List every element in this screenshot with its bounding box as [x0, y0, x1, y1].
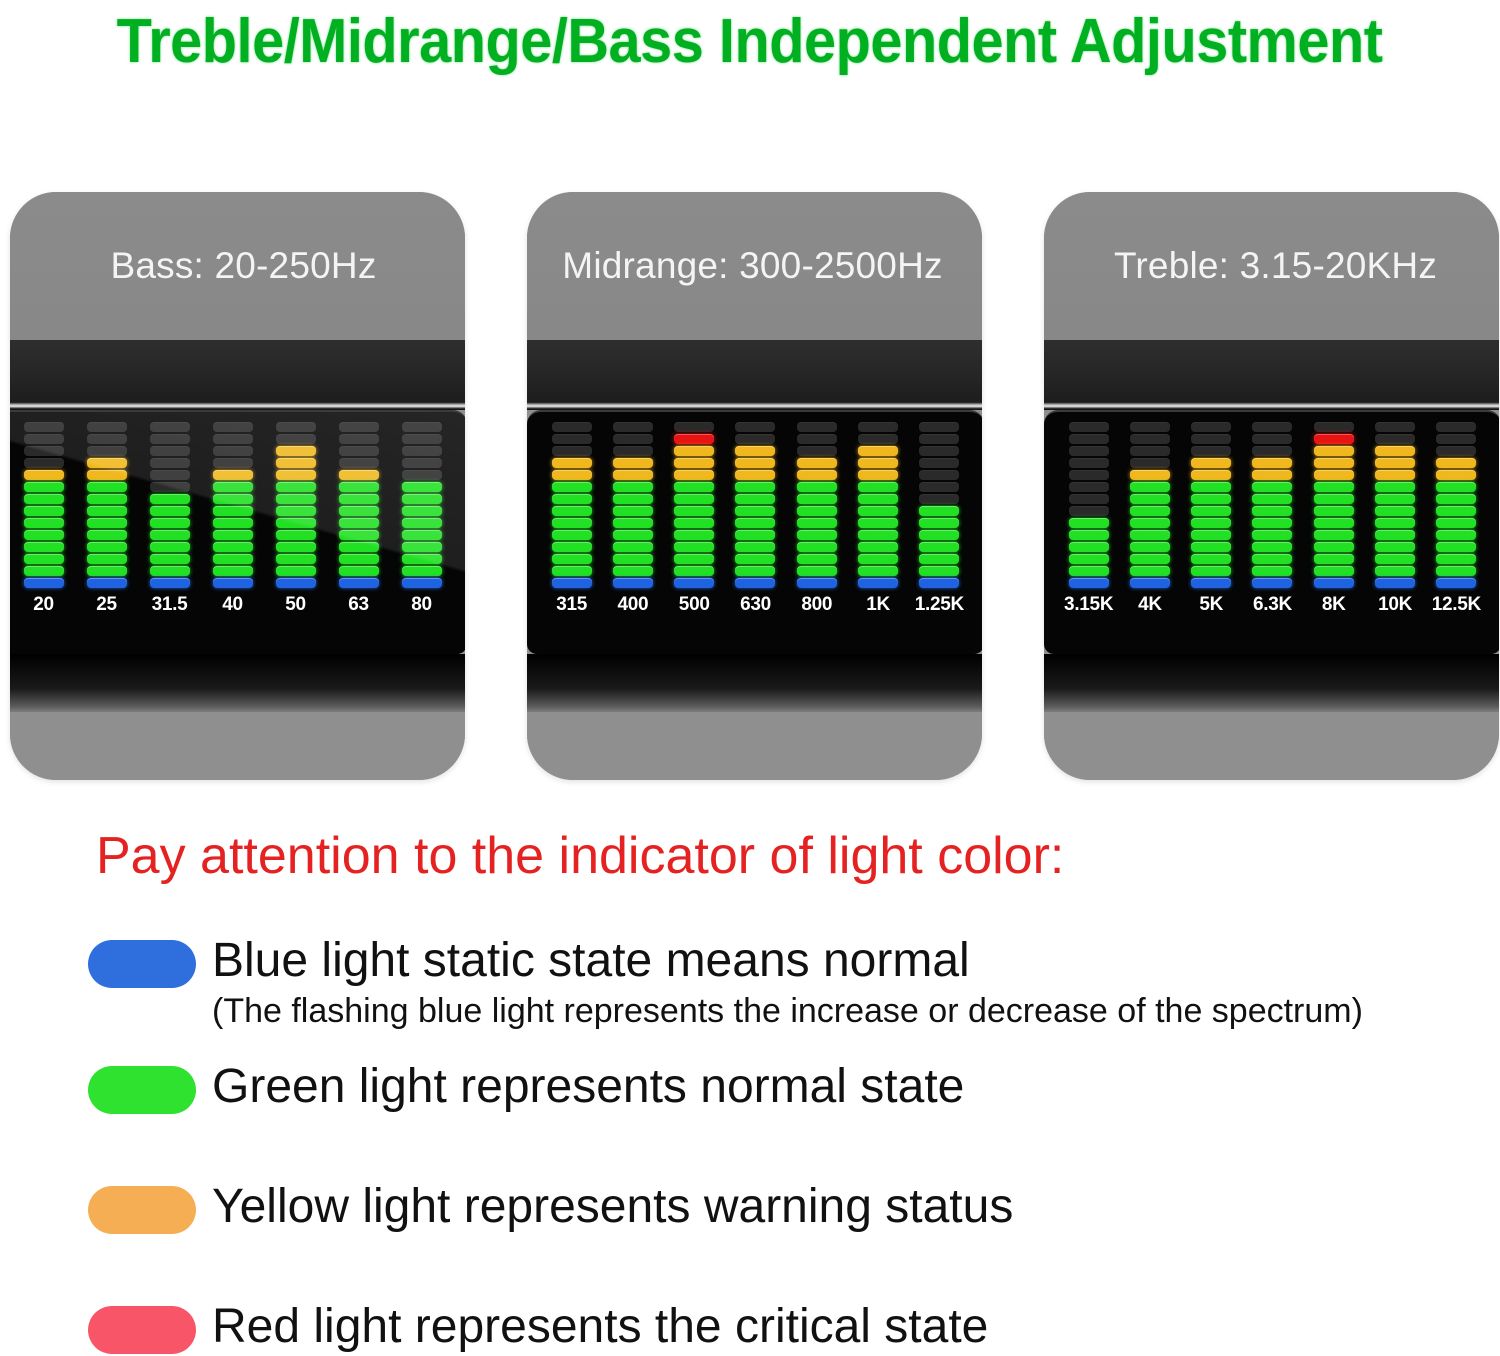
legend-item-green: Green light represents normal state [88, 1058, 1500, 1116]
frequency-label: 400 [618, 594, 649, 616]
led-segment-yellow [276, 470, 316, 480]
led-segment-blue [24, 578, 64, 588]
led-segment-green [552, 554, 592, 564]
led-segment-green [87, 530, 127, 540]
legend-text-blue: Blue light static state means normal (Th… [212, 932, 1363, 1032]
spectrum-panel-midrange: Midrange: 300-2500Hz 3154005006308001K1.… [527, 192, 982, 780]
led-segment-green [1191, 554, 1231, 564]
led-segment-off [1069, 434, 1109, 444]
led-segment-green [213, 530, 253, 540]
panel-header-midrange: Midrange: 300-2500Hz [527, 192, 982, 340]
led-segment-green [919, 506, 959, 516]
led-segment-green [339, 494, 379, 504]
led-segment-green [87, 482, 127, 492]
led-segment-blue [339, 578, 379, 588]
led-segment-green [552, 518, 592, 528]
led-segment-yellow [1375, 446, 1415, 456]
led-segment-off [552, 422, 592, 432]
led-segment-yellow [735, 446, 775, 456]
panel-foot-bass [10, 712, 465, 780]
led-segment-green [858, 518, 898, 528]
led-segment-green [613, 494, 653, 504]
led-segment-green [1130, 482, 1170, 492]
led-segment-green [797, 542, 837, 552]
led-segment-green [87, 566, 127, 576]
yellow-light-swatch-icon [88, 1186, 196, 1234]
panel-header-treble: Treble: 3.15-20KHz [1044, 192, 1499, 340]
led-bar-63: 63 [337, 418, 381, 616]
led-segment-green [24, 494, 64, 504]
led-segment-off [1130, 446, 1170, 456]
led-segment-green [797, 518, 837, 528]
led-segment-green [858, 566, 898, 576]
led-screen-treble: 3.15K4K5K6.3K8K10K12.5K [1044, 410, 1499, 654]
frequency-label: 3.15K [1064, 594, 1113, 616]
led-segment-green [1130, 566, 1170, 576]
frequency-label: 20 [33, 594, 54, 616]
led-segment-off [1252, 422, 1292, 432]
led-segment-green [735, 482, 775, 492]
led-segment-green [24, 542, 64, 552]
led-segment-green [339, 482, 379, 492]
led-segment-green [1191, 530, 1231, 540]
led-segment-green [1252, 494, 1292, 504]
legend-label-red: Red light represents the critical state [212, 1298, 988, 1356]
led-segment-green [213, 494, 253, 504]
frequency-label: 31.5 [152, 594, 188, 616]
led-segment-stack [674, 418, 714, 590]
led-segment-green [674, 542, 714, 552]
page-title: Treble/Midrange/Bass Independent Adjustm… [0, 2, 1500, 82]
led-segment-yellow [613, 470, 653, 480]
frequency-label: 40 [222, 594, 243, 616]
led-segment-off [919, 434, 959, 444]
led-segment-off [213, 434, 253, 444]
led-segment-green [613, 554, 653, 564]
led-bar-group-bass: 202531.540506380 [10, 420, 465, 616]
led-segment-off [1191, 446, 1231, 456]
led-segment-green [552, 566, 592, 576]
led-segment-green [1314, 482, 1354, 492]
legend-label-blue: Blue light static state means normal [212, 932, 1363, 990]
led-segment-green [87, 494, 127, 504]
led-segment-off [1375, 422, 1415, 432]
led-segment-off [1191, 434, 1231, 444]
led-segment-green [1130, 518, 1170, 528]
led-segment-green [1375, 542, 1415, 552]
led-segment-green [1191, 518, 1231, 528]
led-bar-20: 20 [22, 418, 66, 616]
led-segment-green [1252, 554, 1292, 564]
frequency-label: 25 [96, 594, 117, 616]
led-segment-off [24, 434, 64, 444]
led-segment-green [552, 482, 592, 492]
led-segment-green [674, 518, 714, 528]
led-segment-off [213, 446, 253, 456]
legend-item-list: Blue light static state means normal (Th… [0, 932, 1500, 1356]
led-segment-yellow [674, 458, 714, 468]
led-segment-green [1436, 482, 1476, 492]
led-segment-off [150, 470, 190, 480]
led-segment-yellow [674, 446, 714, 456]
led-segment-green [339, 518, 379, 528]
led-segment-green [613, 518, 653, 528]
frequency-label: 5K [1199, 594, 1223, 616]
led-bar-80: 80 [400, 418, 444, 616]
led-segment-green [276, 518, 316, 528]
led-segment-stack [339, 418, 379, 590]
led-segment-yellow [1314, 458, 1354, 468]
led-segment-green [339, 566, 379, 576]
led-segment-green [1069, 566, 1109, 576]
led-segment-green [1130, 542, 1170, 552]
led-segment-stack [402, 418, 442, 590]
led-segment-off [735, 422, 775, 432]
led-segment-green [276, 554, 316, 564]
led-segment-red [1314, 434, 1354, 444]
led-segment-green [1191, 506, 1231, 516]
led-segment-green [858, 530, 898, 540]
led-segment-green [1069, 518, 1109, 528]
led-bar-31.5: 31.5 [148, 418, 192, 616]
led-segment-off [1314, 422, 1354, 432]
led-bar-315: 315 [550, 418, 594, 616]
led-segment-green [797, 506, 837, 516]
led-segment-off [150, 458, 190, 468]
led-segment-blue [1436, 578, 1476, 588]
frequency-label: 630 [740, 594, 771, 616]
led-segment-green [735, 506, 775, 516]
led-segment-stack [24, 418, 64, 590]
led-segment-yellow [87, 458, 127, 468]
frequency-label: 1K [866, 594, 890, 616]
led-segment-green [1436, 494, 1476, 504]
led-segment-off [87, 446, 127, 456]
led-segment-blue [858, 578, 898, 588]
led-segment-green [858, 494, 898, 504]
led-segment-green [24, 482, 64, 492]
led-segment-stack [213, 418, 253, 590]
led-segment-green [87, 518, 127, 528]
panel-dark-band-midrange [527, 340, 982, 402]
led-segment-blue [1069, 578, 1109, 588]
led-segment-green [1314, 494, 1354, 504]
led-segment-green [402, 518, 442, 528]
led-segment-yellow [87, 470, 127, 480]
led-segment-green [1252, 530, 1292, 540]
legend-sublabel-blue: (The flashing blue light represents the … [212, 990, 1363, 1032]
led-segment-blue [87, 578, 127, 588]
led-segment-off [1069, 458, 1109, 468]
led-segment-stack [276, 418, 316, 590]
led-segment-off [402, 446, 442, 456]
led-segment-green [919, 542, 959, 552]
led-segment-off [613, 446, 653, 456]
green-light-swatch-icon [88, 1066, 196, 1114]
led-segment-green [1375, 506, 1415, 516]
led-segment-off [1375, 434, 1415, 444]
led-segment-green [674, 566, 714, 576]
led-segment-green [1375, 554, 1415, 564]
led-segment-green [1436, 566, 1476, 576]
led-segment-yellow [276, 458, 316, 468]
led-segment-green [24, 566, 64, 576]
led-segment-green [150, 494, 190, 504]
panel-title-midrange: Midrange: 300-2500Hz [562, 245, 942, 287]
led-segment-yellow [1436, 458, 1476, 468]
led-segment-yellow [276, 446, 316, 456]
panel-hairline-bass [10, 402, 465, 410]
led-segment-off [339, 434, 379, 444]
led-segment-off [213, 458, 253, 468]
led-segment-off [339, 458, 379, 468]
led-segment-off [1252, 446, 1292, 456]
led-segment-green [797, 530, 837, 540]
panel-bottom-band-bass [10, 654, 465, 714]
led-segment-off [674, 422, 714, 432]
led-segment-yellow [674, 470, 714, 480]
led-segment-stack [150, 418, 190, 590]
led-segment-green [150, 542, 190, 552]
led-segment-green [674, 494, 714, 504]
led-segment-yellow [24, 470, 64, 480]
led-segment-off [1436, 446, 1476, 456]
led-segment-green [1191, 494, 1231, 504]
led-segment-green [735, 566, 775, 576]
led-segment-off [613, 422, 653, 432]
panel-dark-band-treble [1044, 340, 1499, 402]
led-segment-green [1436, 542, 1476, 552]
led-segment-green [919, 566, 959, 576]
frequency-label: 500 [679, 594, 710, 616]
led-segment-off [613, 434, 653, 444]
led-segment-green [276, 506, 316, 516]
led-segment-green [552, 506, 592, 516]
led-segment-yellow [1130, 470, 1170, 480]
led-segment-yellow [797, 458, 837, 468]
legend-item-red: Red light represents the critical state [88, 1298, 1500, 1356]
led-segment-green [919, 530, 959, 540]
led-segment-green [1375, 566, 1415, 576]
led-segment-off [797, 446, 837, 456]
led-segment-stack [735, 418, 775, 590]
led-segment-green [613, 506, 653, 516]
led-segment-blue [1252, 578, 1292, 588]
led-segment-blue [674, 578, 714, 588]
led-segment-green [213, 566, 253, 576]
led-segment-green [276, 482, 316, 492]
led-segment-blue [552, 578, 592, 588]
led-segment-green [1191, 566, 1231, 576]
led-segment-stack [1130, 418, 1170, 590]
led-segment-stack [1191, 418, 1231, 590]
led-segment-off [1130, 434, 1170, 444]
led-segment-green [213, 482, 253, 492]
led-segment-off [150, 422, 190, 432]
led-bar-12.5K: 12.5K [1434, 418, 1478, 616]
led-segment-stack [87, 418, 127, 590]
led-segment-off [87, 434, 127, 444]
spectrum-panel-bass: Bass: 20-250Hz 202531.540506380 [10, 192, 465, 780]
led-segment-yellow [1191, 470, 1231, 480]
led-segment-off [24, 458, 64, 468]
led-segment-off [919, 494, 959, 504]
frequency-label: 50 [285, 594, 306, 616]
led-segment-green [674, 530, 714, 540]
led-segment-blue [213, 578, 253, 588]
led-bar-group-treble: 3.15K4K5K6.3K8K10K12.5K [1044, 420, 1499, 616]
led-segment-green [613, 566, 653, 576]
panel-bottom-band-midrange [527, 654, 982, 714]
led-segment-green [1069, 542, 1109, 552]
led-segment-yellow [552, 458, 592, 468]
led-segment-yellow [213, 470, 253, 480]
led-segment-green [1314, 506, 1354, 516]
led-segment-green [339, 554, 379, 564]
led-segment-yellow [1314, 470, 1354, 480]
led-segment-green [674, 506, 714, 516]
led-screen-midrange: 3154005006308001K1.25K [527, 410, 982, 654]
led-segment-green [858, 506, 898, 516]
led-segment-green [402, 542, 442, 552]
legend-label-green: Green light represents normal state [212, 1058, 964, 1116]
frequency-label: 800 [801, 594, 832, 616]
led-bar-1.25K: 1.25K [917, 418, 961, 616]
led-segment-green [402, 530, 442, 540]
led-bar-400: 400 [611, 418, 655, 616]
led-segment-yellow [1252, 458, 1292, 468]
led-bar-40: 40 [211, 418, 255, 616]
led-segment-green [919, 518, 959, 528]
led-segment-off [858, 422, 898, 432]
led-segment-green [402, 482, 442, 492]
led-segment-green [1436, 518, 1476, 528]
led-segment-off [1130, 422, 1170, 432]
led-segment-green [552, 530, 592, 540]
page-title-text: Treble/Midrange/Bass Independent Adjustm… [117, 9, 1383, 75]
led-segment-green [87, 506, 127, 516]
led-segment-green [150, 506, 190, 516]
panel-foot-treble [1044, 712, 1499, 780]
frequency-label: 1.25K [915, 594, 964, 616]
led-segment-yellow [1191, 458, 1231, 468]
panel-title-bass: Bass: 20-250Hz [110, 245, 376, 287]
led-segment-stack [1252, 418, 1292, 590]
led-segment-green [1314, 554, 1354, 564]
panel-dark-band-bass [10, 340, 465, 402]
frequency-label: 80 [411, 594, 432, 616]
legend-text-green: Green light represents normal state [212, 1058, 964, 1116]
led-segment-green [1436, 506, 1476, 516]
led-segment-green [1130, 530, 1170, 540]
led-segment-green [1314, 542, 1354, 552]
led-segment-green [735, 554, 775, 564]
led-segment-green [797, 482, 837, 492]
led-segment-green [552, 542, 592, 552]
led-segment-green [858, 542, 898, 552]
led-segment-green [797, 566, 837, 576]
led-segment-off [1191, 422, 1231, 432]
led-segment-stack [1375, 418, 1415, 590]
led-segment-blue [150, 578, 190, 588]
led-segment-stack [613, 418, 653, 590]
led-segment-green [1375, 530, 1415, 540]
led-segment-yellow [797, 470, 837, 480]
led-bar-25: 25 [85, 418, 129, 616]
led-segment-off [1069, 494, 1109, 504]
led-segment-off [276, 422, 316, 432]
led-segment-green [1252, 542, 1292, 552]
led-segment-green [276, 566, 316, 576]
led-segment-green [735, 530, 775, 540]
led-segment-green [150, 554, 190, 564]
led-segment-yellow [613, 458, 653, 468]
led-segment-green [1252, 482, 1292, 492]
led-segment-off [1436, 422, 1476, 432]
led-segment-off [735, 434, 775, 444]
led-segment-off [1252, 434, 1292, 444]
led-segment-off [150, 482, 190, 492]
led-segment-off [1069, 470, 1109, 480]
panel-title-treble: Treble: 3.15-20KHz [1114, 245, 1437, 287]
led-segment-yellow [735, 470, 775, 480]
red-light-swatch-icon [88, 1306, 196, 1354]
led-segment-yellow [1314, 446, 1354, 456]
led-bar-1K: 1K [856, 418, 900, 616]
led-segment-off [919, 482, 959, 492]
frequency-label: 315 [556, 594, 587, 616]
led-segment-green [1130, 554, 1170, 564]
led-segment-green [1069, 554, 1109, 564]
led-bar-group-midrange: 3154005006308001K1.25K [527, 420, 982, 616]
led-segment-yellow [1436, 470, 1476, 480]
frequency-label: 6.3K [1253, 594, 1292, 616]
led-segment-stack [1069, 418, 1109, 590]
legend-item-yellow: Yellow light represents warning status [88, 1178, 1500, 1236]
led-segment-green [797, 494, 837, 504]
frequency-label: 10K [1378, 594, 1412, 616]
led-segment-off [24, 446, 64, 456]
led-segment-green [674, 482, 714, 492]
legend-heading: Pay attention to the indicator of light … [96, 826, 1500, 886]
led-segment-green [1130, 494, 1170, 504]
led-segment-green [1314, 566, 1354, 576]
led-segment-green [1130, 506, 1170, 516]
led-segment-off [1436, 434, 1476, 444]
led-segment-blue [735, 578, 775, 588]
led-segment-stack [919, 418, 959, 590]
led-segment-green [1191, 482, 1231, 492]
led-segment-off [150, 446, 190, 456]
frequency-label: 63 [348, 594, 369, 616]
led-segment-off [919, 470, 959, 480]
led-segment-green [87, 554, 127, 564]
frequency-label: 12.5K [1432, 594, 1481, 616]
led-segment-green [797, 554, 837, 564]
led-segment-green [24, 530, 64, 540]
led-segment-off [402, 434, 442, 444]
led-segment-green [858, 554, 898, 564]
led-segment-green [339, 506, 379, 516]
frequency-label: 4K [1138, 594, 1162, 616]
led-segment-green [858, 482, 898, 492]
led-segment-stack [858, 418, 898, 590]
led-segment-off [1069, 446, 1109, 456]
led-segment-yellow [339, 470, 379, 480]
led-segment-off [402, 470, 442, 480]
led-segment-green [24, 518, 64, 528]
led-segment-green [1375, 518, 1415, 528]
